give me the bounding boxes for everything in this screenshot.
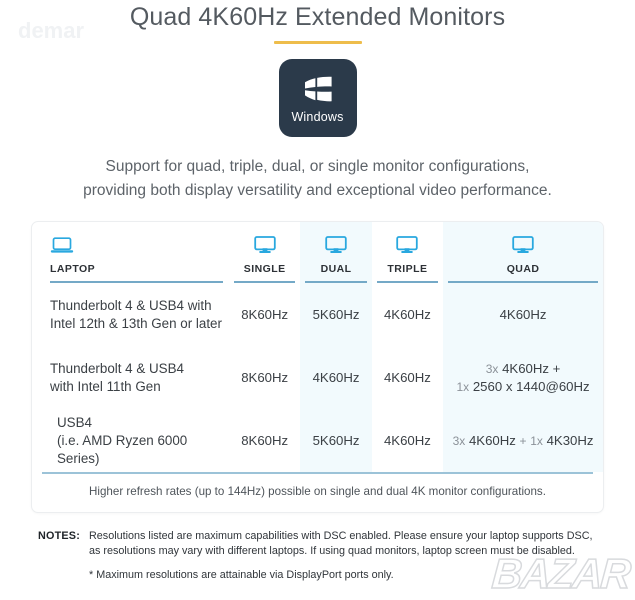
column-header-laptop: LAPTOP	[32, 222, 229, 283]
row-3-quad-value-2: 4K30Hz	[547, 433, 594, 448]
row-2-quad-value-2: 2560 x 1440@60Hz	[473, 379, 590, 394]
row-1-laptop: Thunderbolt 4 & USB4 with Intel 12th & 1…	[32, 283, 229, 346]
windows-badge-label: Windows	[291, 110, 343, 124]
row-2-single: 8K60Hz	[229, 346, 300, 409]
column-header-dual: DUAL	[300, 222, 371, 283]
monitor-icon	[396, 236, 418, 257]
table-footer-cell: Higher refresh rates (up to 144Hz) possi…	[32, 472, 603, 512]
row-2-triple: 4K60Hz	[372, 346, 443, 409]
row-1-dual: 5K60Hz	[300, 283, 371, 346]
monitor-icon	[254, 236, 276, 257]
row-3-laptop-line-2: (i.e. AMD Ryzen 6000 Series)	[57, 432, 229, 468]
watermark-bazar: BAZAR	[490, 550, 630, 598]
row-2-quad-line-1: 3x 4K60Hz +	[443, 360, 603, 378]
table-footer-note: Higher refresh rates (up to 144Hz) possi…	[32, 474, 603, 512]
notes-line-1: Resolutions listed are maximum capabilit…	[89, 530, 593, 542]
row-3-dual: 5K60Hz	[300, 409, 371, 472]
row-3-laptop: USB4 (i.e. AMD Ryzen 6000 Series)	[32, 409, 229, 472]
column-header-quad-label: QUAD	[507, 263, 540, 275]
watermark-demar: demar	[18, 18, 84, 44]
row-3-triple: 4K60Hz	[372, 409, 443, 472]
row-2-quad-value-1: 4K60Hz +	[502, 361, 560, 376]
table-row: Thunderbolt 4 & USB4 with Intel 12th & 1…	[32, 283, 603, 346]
table-row: Thunderbolt 4 & USB4 with Intel 11th Gen…	[32, 346, 603, 409]
table-header-row: LAPTOP	[32, 222, 603, 283]
row-3-laptop-line-1: USB4	[57, 414, 229, 432]
row-1-laptop-line-1: Thunderbolt 4 & USB4 with	[50, 297, 229, 315]
row-3-quad: 3x 4K60Hz + 1x 4K30Hz	[443, 409, 603, 472]
column-header-quad: QUAD	[443, 222, 603, 283]
table-footer: Higher refresh rates (up to 144Hz) possi…	[32, 472, 603, 512]
monitor-support-table: LAPTOP	[32, 222, 603, 512]
column-header-laptop-label: LAPTOP	[50, 263, 95, 275]
marketing-panel: Quad 4K60Hz Extended Monitors Windows Su…	[0, 0, 635, 583]
page-subtitle: Support for quad, triple, dual, or singl…	[18, 155, 617, 203]
row-2-quad-multiplier-1: 3x	[486, 362, 499, 376]
laptop-icon	[50, 237, 74, 257]
row-2-dual: 4K60Hz	[300, 346, 371, 409]
subtitle-line-1: Support for quad, triple, dual, or singl…	[44, 155, 591, 179]
monitor-icon	[325, 236, 347, 257]
table-row: USB4 (i.e. AMD Ryzen 6000 Series) 8K60Hz…	[32, 409, 603, 472]
page-title: Quad 4K60Hz Extended Monitors	[18, 0, 617, 32]
windows-logo-icon	[303, 76, 333, 107]
title-accent-rule	[274, 41, 362, 44]
row-1-triple: 4K60Hz	[372, 283, 443, 346]
monitor-icon	[512, 236, 534, 257]
row-1-laptop-line-2: Intel 12th & 13th Gen or later	[50, 315, 229, 333]
column-header-triple-label: TRIPLE	[387, 263, 427, 275]
subtitle-line-2: providing both display versatility and e…	[44, 179, 591, 203]
row-2-laptop: Thunderbolt 4 & USB4 with Intel 11th Gen	[32, 346, 229, 409]
row-3-quad-multiplier-2: 1x	[530, 434, 543, 448]
column-header-triple: TRIPLE	[372, 222, 443, 283]
table-body: Thunderbolt 4 & USB4 with Intel 12th & 1…	[32, 283, 603, 472]
table-header: LAPTOP	[32, 222, 603, 283]
column-header-single-label: SINGLE	[244, 263, 286, 275]
row-3-quad-value-1: 4K60Hz	[469, 433, 516, 448]
windows-os-badge: Windows	[279, 59, 357, 137]
row-2-quad-multiplier-2: 1x	[456, 380, 469, 394]
os-badge-row: Windows	[18, 59, 617, 137]
monitor-support-card: LAPTOP	[31, 221, 604, 513]
column-header-single: SINGLE	[229, 222, 300, 283]
row-3-single: 8K60Hz	[229, 409, 300, 472]
row-2-laptop-line-1: Thunderbolt 4 & USB4	[50, 360, 229, 378]
row-1-quad: 4K60Hz	[443, 283, 603, 346]
row-3-quad-plus: +	[520, 434, 527, 448]
table-footer-row: Higher refresh rates (up to 144Hz) possi…	[32, 472, 603, 512]
row-2-laptop-line-2: with Intel 11th Gen	[50, 378, 229, 396]
column-header-dual-label: DUAL	[321, 263, 352, 275]
row-3-quad-multiplier-1: 3x	[453, 434, 466, 448]
row-1-single: 8K60Hz	[229, 283, 300, 346]
row-2-quad: 3x 4K60Hz + 1x 2560 x 1440@60Hz	[443, 346, 603, 409]
row-2-quad-line-2: 1x 2560 x 1440@60Hz	[443, 378, 603, 396]
notes-label: NOTES:	[38, 529, 80, 583]
